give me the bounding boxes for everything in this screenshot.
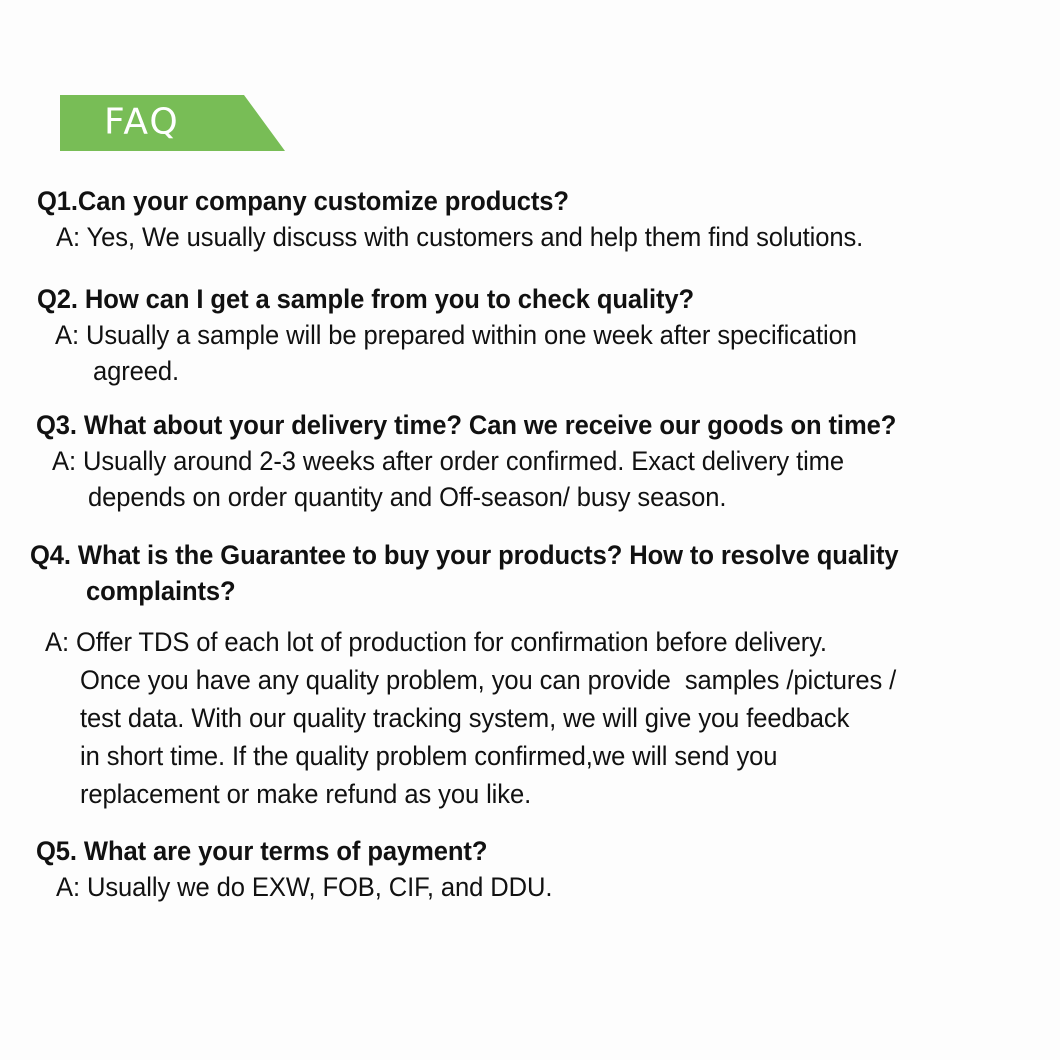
faq-question-q4-line2: complaints? bbox=[86, 573, 1026, 609]
faq-item-q3: Q3. What about your delivery time? Can w… bbox=[0, 407, 1060, 515]
faq-item-q5: Q5. What are your terms of payment? A: U… bbox=[0, 833, 1060, 905]
faq-item-q1: Q1.Can your company customize products? … bbox=[0, 183, 1060, 255]
faq-answer-q4: A: Offer TDS of each lot of production f… bbox=[0, 623, 1060, 813]
faq-question-q1: Q1.Can your company customize products? bbox=[37, 183, 1024, 219]
faq-answer-q1-line1: A: Yes, We usually discuss with customer… bbox=[56, 219, 1025, 255]
faq-answer-q2-line2: agreed. bbox=[93, 353, 1026, 389]
faq-answer-q5-line1: A: Usually we do EXW, FOB, CIF, and DDU. bbox=[56, 869, 1025, 905]
faq-answer-q3-line2: depends on order quantity and Off-season… bbox=[88, 479, 1026, 515]
faq-list: Q1.Can your company customize products? … bbox=[0, 183, 1060, 905]
faq-banner: FAQ bbox=[60, 95, 285, 151]
faq-answer-q2-line1: A: Usually a sample will be prepared wit… bbox=[55, 317, 1025, 353]
faq-answer-q4-line2: Once you have any quality problem, you c… bbox=[80, 661, 1026, 699]
faq-item-q4: Q4. What is the Guarantee to buy your pr… bbox=[0, 537, 1060, 813]
faq-question-q3: Q3. What about your delivery time? Can w… bbox=[36, 407, 1024, 443]
faq-question-q2: Q2. How can I get a sample from you to c… bbox=[37, 281, 1024, 317]
faq-answer-q4-line1: A: Offer TDS of each lot of production f… bbox=[45, 623, 1024, 661]
faq-item-q2: Q2. How can I get a sample from you to c… bbox=[0, 281, 1060, 389]
faq-question-q4-line1: Q4. What is the Guarantee to buy your pr… bbox=[30, 537, 1024, 573]
faq-answer-q4-line3: test data. With our quality tracking sys… bbox=[80, 699, 1026, 737]
faq-answer-q4-line4: in short time. If the quality problem co… bbox=[80, 737, 1026, 775]
faq-answer-q3-line1: A: Usually around 2-3 weeks after order … bbox=[52, 443, 1025, 479]
faq-banner-label: FAQ bbox=[104, 102, 180, 143]
faq-question-q5: Q5. What are your terms of payment? bbox=[36, 833, 1024, 869]
faq-answer-q4-line5: replacement or make refund as you like. bbox=[80, 775, 1026, 813]
